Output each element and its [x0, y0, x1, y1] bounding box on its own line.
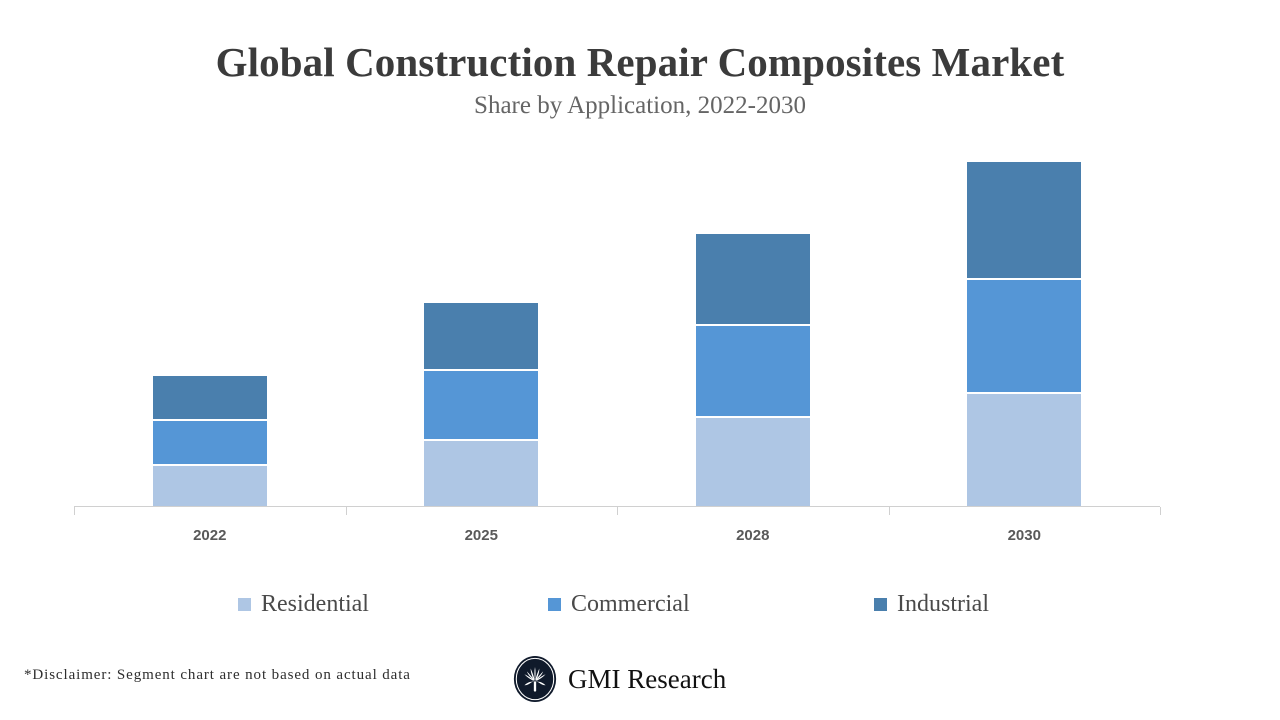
axis-tick: [889, 507, 890, 515]
bar-stack: [696, 234, 810, 507]
bar-segment-residential: [696, 418, 810, 507]
bar-segment-residential: [967, 394, 1081, 507]
legend-label: Commercial: [571, 591, 690, 618]
bar-stack: [967, 162, 1081, 507]
bar-segment-commercial: [696, 326, 810, 418]
x-axis-label-2025: 2025: [421, 527, 541, 544]
bar-segment-commercial: [153, 421, 267, 466]
bar-segment-industrial: [153, 376, 267, 421]
bar-segment-residential: [424, 441, 538, 507]
brand-block: GMI Research: [511, 655, 726, 703]
legend-swatch-icon: [238, 598, 251, 611]
bar-stack: [153, 376, 267, 507]
legend-label: Industrial: [897, 591, 989, 618]
chart-legend: ResidentialCommercialIndustrial: [0, 588, 1280, 620]
axis-tick: [74, 507, 75, 515]
bar-segment-commercial: [424, 371, 538, 441]
legend-swatch-icon: [548, 598, 561, 611]
brand-name: GMI Research: [568, 664, 726, 695]
bar-segment-industrial: [967, 162, 1081, 280]
axis-tick: [346, 507, 347, 515]
legend-item-commercial[interactable]: Commercial: [548, 588, 690, 620]
bar-segment-commercial: [967, 280, 1081, 394]
x-axis-label-2028: 2028: [693, 527, 813, 544]
legend-label: Residential: [261, 591, 369, 618]
legend-item-industrial[interactable]: Industrial: [874, 588, 989, 620]
bar-segment-industrial: [696, 234, 810, 326]
disclaimer-text: *Disclaimer: Segment chart are not based…: [24, 667, 411, 684]
plot-area: [74, 140, 1160, 507]
axis-tick: [617, 507, 618, 515]
legend-swatch-icon: [874, 598, 887, 611]
chart-title: Global Construction Repair Composites Ma…: [0, 38, 1280, 87]
chart-subtitle: Share by Application, 2022-2030: [0, 90, 1280, 122]
bar-segment-industrial: [424, 303, 538, 371]
chart-header: Global Construction Repair Composites Ma…: [0, 38, 1280, 122]
bar-stack: [424, 303, 538, 507]
x-axis-label-2022: 2022: [150, 527, 270, 544]
bar-segment-residential: [153, 466, 267, 507]
gmi-palm-emblem-icon: [511, 655, 559, 703]
axis-tick: [1160, 507, 1161, 515]
chart-canvas: Global Construction Repair Composites Ma…: [0, 0, 1280, 720]
x-axis-label-2030: 2030: [964, 527, 1084, 544]
legend-item-residential[interactable]: Residential: [238, 588, 369, 620]
